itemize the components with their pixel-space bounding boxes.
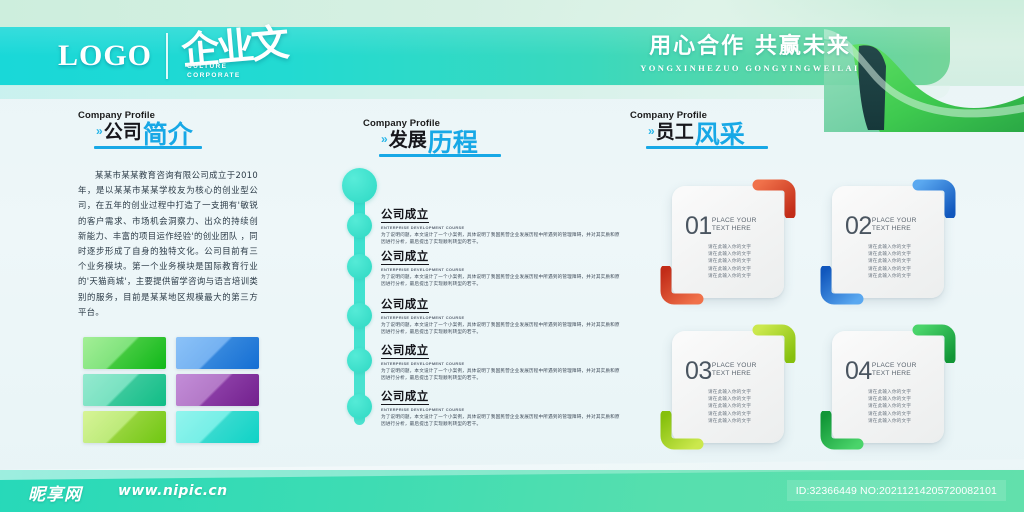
card-number: 04 <box>845 359 872 383</box>
timeline-item-subtitle: ENTERPRISE DEVELOPMENT COURSE <box>381 267 621 272</box>
card-bracket-top-right-icon <box>912 174 956 218</box>
card-body-line: 请在此输入你的文字 <box>708 266 777 273</box>
color-swatch-teal <box>83 374 166 406</box>
card-body-line: 请在此输入你的文字 <box>868 418 937 425</box>
color-swatch-lime <box>83 411 166 443</box>
footer-watermark-bar: 昵享网 www.nipic.cn ID:32366449 NO:20211214… <box>0 470 1024 512</box>
timeline-item: 公司成立ENTERPRISE DEVELOPMENT COURSE为了说明问题，… <box>381 205 621 247</box>
section-heading-staff: Company Profile » 员工 风采 <box>630 110 768 149</box>
card-body-line: 请在此输入你的文字 <box>868 266 937 273</box>
staff-title-blue: 风采 <box>695 125 745 145</box>
card-body-line: 请在此输入你的文字 <box>868 258 937 265</box>
slogan-pinyin: YONGXINHEZUO GONGYINGWEILAI <box>600 63 900 73</box>
card-bracket-bottom-left-icon <box>820 266 864 310</box>
watermark-url: www.nipic.cn <box>118 483 228 499</box>
card-body-line: 请在此输入你的文字 <box>708 244 777 251</box>
timeline-item-title: 公司成立 <box>381 344 429 359</box>
card-bracket-bottom-left-icon <box>660 266 704 310</box>
card-bracket-bottom-left-icon <box>660 411 704 455</box>
logo-subtitle-line1: CULTURE <box>187 62 241 71</box>
card-body-line: 请在此输入你的文字 <box>708 273 777 280</box>
card-placeholder-line1: PLACE YOUR <box>872 362 917 370</box>
chevron-right-icon: » <box>96 124 101 138</box>
card-placeholder-line1: PLACE YOUR <box>872 217 917 225</box>
timeline-item: 公司成立ENTERPRISE DEVELOPMENT COURSE为了说明问题，… <box>381 387 621 429</box>
card-body-lines: 请在此输入你的文字请在此输入你的文字请在此输入你的文字请在此输入你的文字请在此输… <box>708 244 777 280</box>
timeline-item-body: 为了说明问题，本文设计了一个小案例，具体说明了我国民营企业发展历程中所遇到的管理… <box>381 414 621 429</box>
timeline-item-body: 为了说明问题，本文设计了一个小案例，具体说明了我国民营企业发展历程中所遇到的管理… <box>381 274 621 289</box>
history-title-dark: 发展 <box>389 130 427 150</box>
card-body-line: 请在此输入你的文字 <box>708 258 777 265</box>
slogan-chinese: 用心合作 共赢未来 <box>600 34 900 60</box>
logo-divider <box>166 33 168 79</box>
timeline-item-title: 公司成立 <box>381 390 429 405</box>
logo[interactable]: LOGO 企业文 CULTURE CORPORATE <box>58 28 289 84</box>
card-body-line: 请在此输入你的文字 <box>868 273 937 280</box>
timeline-start-node <box>342 168 377 203</box>
card-bracket-top-right-icon <box>752 319 796 363</box>
card-body-line: 请在此输入你的文字 <box>868 411 937 418</box>
header-slogan: 用心合作 共赢未来 YONGXINHEZUO GONGYINGWEILAI <box>600 34 900 73</box>
color-swatch-purple <box>176 374 259 406</box>
watermark-brand-cn: 昵享网 <box>28 480 82 505</box>
chevron-right-icon: » <box>381 132 386 146</box>
poster-canvas: LOGO 企业文 CULTURE CORPORATE 用心合作 共赢未来 YON… <box>0 0 1024 512</box>
asset-id-badge: ID:32366449 NO:20211214205720082101 <box>787 480 1006 501</box>
card-placeholder-line2: TEXT HERE <box>712 370 757 378</box>
card-body-line: 请在此输入你的文字 <box>708 411 777 418</box>
logo-subtitle-line2: CORPORATE <box>187 71 241 80</box>
card-body-line: 请在此输入你的文字 <box>708 396 777 403</box>
card-body-line: 请在此输入你的文字 <box>868 244 937 251</box>
timeline-item-subtitle: ENTERPRISE DEVELOPMENT COURSE <box>381 225 621 230</box>
card-body-line: 请在此输入你的文字 <box>708 251 777 258</box>
card-number: 02 <box>845 214 872 238</box>
staff-title-row: » 员工 风采 <box>630 122 768 142</box>
timeline-item-title: 公司成立 <box>381 208 429 223</box>
card-placeholder-line2: TEXT HERE <box>872 225 917 233</box>
banner-underlay <box>0 85 950 99</box>
timeline-node-4 <box>347 348 372 373</box>
number-card-01[interactable]: 01PLACE YOURTEXT HERE请在此输入你的文字请在此输入你的文字请… <box>672 186 784 298</box>
card-bracket-bottom-left-icon <box>820 411 864 455</box>
number-card-03[interactable]: 03PLACE YOURTEXT HERE请在此输入你的文字请在此输入你的文字请… <box>672 331 784 443</box>
profile-title-blue: 简介 <box>143 125 193 145</box>
timeline-item-body: 为了说明问题，本文设计了一个小案例，具体说明了我国民营企业发展历程中所遇到的管理… <box>381 232 621 247</box>
logo-subtitle: CULTURE CORPORATE <box>187 62 241 80</box>
section-heading-profile: Company Profile » 公司 简介 <box>78 110 202 149</box>
chevron-right-icon: » <box>648 124 653 138</box>
timeline-item: 公司成立ENTERPRISE DEVELOPMENT COURSE为了说明问题，… <box>381 295 621 337</box>
color-swatch-grid <box>83 337 259 443</box>
card-number: 01 <box>685 214 712 238</box>
timeline-item: 公司成立ENTERPRISE DEVELOPMENT COURSE为了说明问题，… <box>381 341 621 383</box>
timeline-node-3 <box>347 303 372 328</box>
card-bracket-top-right-icon <box>912 319 956 363</box>
timeline-item-body: 为了说明问题，本文设计了一个小案例，具体说明了我国民营企业发展历程中所遇到的管理… <box>381 322 621 337</box>
card-placeholder-line1: PLACE YOUR <box>712 362 757 370</box>
timeline-item-title: 公司成立 <box>381 298 429 313</box>
card-body-lines: 请在此输入你的文字请在此输入你的文字请在此输入你的文字请在此输入你的文字请在此输… <box>708 389 777 425</box>
history-title-row: » 发展 历程 <box>363 130 501 150</box>
staff-title-dark: 员工 <box>656 122 694 142</box>
card-body-line: 请在此输入你的文字 <box>868 251 937 258</box>
timeline-item-title: 公司成立 <box>381 250 429 265</box>
card-body-line: 请在此输入你的文字 <box>868 389 937 396</box>
card-body-line: 请在此输入你的文字 <box>868 403 937 410</box>
card-placeholder-line2: TEXT HERE <box>712 225 757 233</box>
section-heading-history: Company Profile » 发展 历程 <box>363 118 501 157</box>
color-swatch-cyan <box>176 411 259 443</box>
card-placeholder-heading: PLACE YOURTEXT HERE <box>712 362 757 379</box>
card-number: 03 <box>685 359 712 383</box>
number-card-02[interactable]: 02PLACE YOURTEXT HERE请在此输入你的文字请在此输入你的文字请… <box>832 186 944 298</box>
card-bracket-top-right-icon <box>752 174 796 218</box>
profile-title-row: » 公司 简介 <box>78 122 202 142</box>
timeline-item-subtitle: ENTERPRISE DEVELOPMENT COURSE <box>381 361 621 366</box>
timeline-node-2 <box>347 254 372 279</box>
color-swatch-blue <box>176 337 259 369</box>
profile-title-dark: 公司 <box>104 122 142 142</box>
timeline-node-5 <box>347 394 372 419</box>
logo-chinese-brush: 企业文 CULTURE CORPORATE <box>181 22 289 84</box>
timeline-node-1 <box>347 213 372 238</box>
card-body-line: 请在此输入你的文字 <box>708 418 777 425</box>
card-body-lines: 请在此输入你的文字请在此输入你的文字请在此输入你的文字请在此输入你的文字请在此输… <box>868 389 937 425</box>
color-swatch-green <box>83 337 166 369</box>
card-body-line: 请在此输入你的文字 <box>708 403 777 410</box>
card-placeholder-heading: PLACE YOURTEXT HERE <box>872 362 917 379</box>
timeline-item-subtitle: ENTERPRISE DEVELOPMENT COURSE <box>381 315 621 320</box>
profile-body-text: 某某市某某教育咨询有限公司成立于2010年，是以某某市某某学校友为核心的创业型公… <box>78 168 258 320</box>
card-body-line: 请在此输入你的文字 <box>708 389 777 396</box>
card-placeholder-line2: TEXT HERE <box>872 370 917 378</box>
card-placeholder-heading: PLACE YOURTEXT HERE <box>712 217 757 234</box>
history-title-blue: 历程 <box>428 133 478 153</box>
number-card-04[interactable]: 04PLACE YOURTEXT HERE请在此输入你的文字请在此输入你的文字请… <box>832 331 944 443</box>
card-body-lines: 请在此输入你的文字请在此输入你的文字请在此输入你的文字请在此输入你的文字请在此输… <box>868 244 937 280</box>
card-placeholder-heading: PLACE YOURTEXT HERE <box>872 217 917 234</box>
card-placeholder-line1: PLACE YOUR <box>712 217 757 225</box>
logo-text: LOGO <box>58 39 152 73</box>
timeline-item: 公司成立ENTERPRISE DEVELOPMENT COURSE为了说明问题，… <box>381 247 621 289</box>
footer-stripe <box>0 459 1024 480</box>
timeline-item-subtitle: ENTERPRISE DEVELOPMENT COURSE <box>381 407 621 412</box>
timeline-item-body: 为了说明问题，本文设计了一个小案例，具体说明了我国民营企业发展历程中所遇到的管理… <box>381 368 621 383</box>
card-body-line: 请在此输入你的文字 <box>868 396 937 403</box>
